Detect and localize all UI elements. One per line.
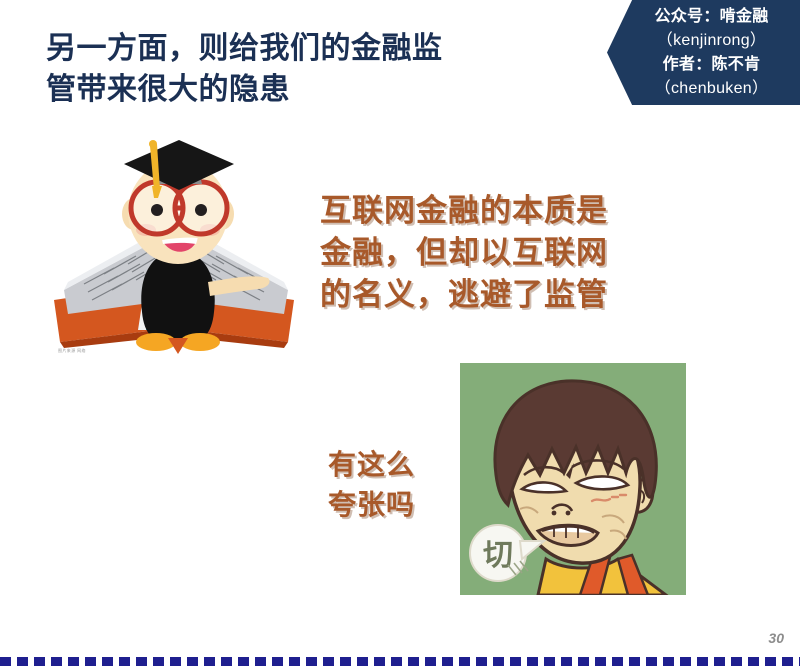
cartoon-image: 切 <box>460 363 686 595</box>
bottom-dashed-strip <box>0 657 800 666</box>
illustration-watermark: 图片来源 网络 <box>58 348 86 354</box>
headline-text: 互联网金融的本质是 金融，但却以互联网 的名义，逃避了监管 <box>320 190 660 316</box>
banner-line-account-id: （kenjinrong） <box>607 29 800 53</box>
banner-line-author-id: （chenbuken） <box>607 77 800 101</box>
banner-line-account: 公众号：啃金融 <box>607 5 800 29</box>
headline-line-2: 金融，但却以互联网 <box>320 232 660 274</box>
bubble-text: 切 <box>483 538 513 573</box>
author-banner: 公众号：啃金融 （kenjinrong） 作者：陈不肯 （chenbuken） <box>607 0 800 105</box>
slide-canvas: 公众号：啃金融 （kenjinrong） 作者：陈不肯 （chenbuken） … <box>0 0 800 666</box>
scholar-illustration: 图片来源 网络 <box>42 132 314 360</box>
slide-title-line-1: 另一方面，则给我们的金融监 <box>46 28 566 69</box>
slide-title-line-2: 管带来很大的隐患 <box>46 69 566 110</box>
skeptical-boy-icon: 切 <box>460 363 686 595</box>
page-number: 30 <box>768 630 784 646</box>
scholar-icon <box>42 132 314 360</box>
slide-title: 另一方面，则给我们的金融监 管带来很大的隐患 <box>46 28 566 110</box>
headline-line-1: 互联网金融的本质是 <box>320 190 660 232</box>
headline-line-3: 的名义，逃避了监管 <box>320 274 660 316</box>
banner-line-author: 作者：陈不肯 <box>607 53 800 77</box>
